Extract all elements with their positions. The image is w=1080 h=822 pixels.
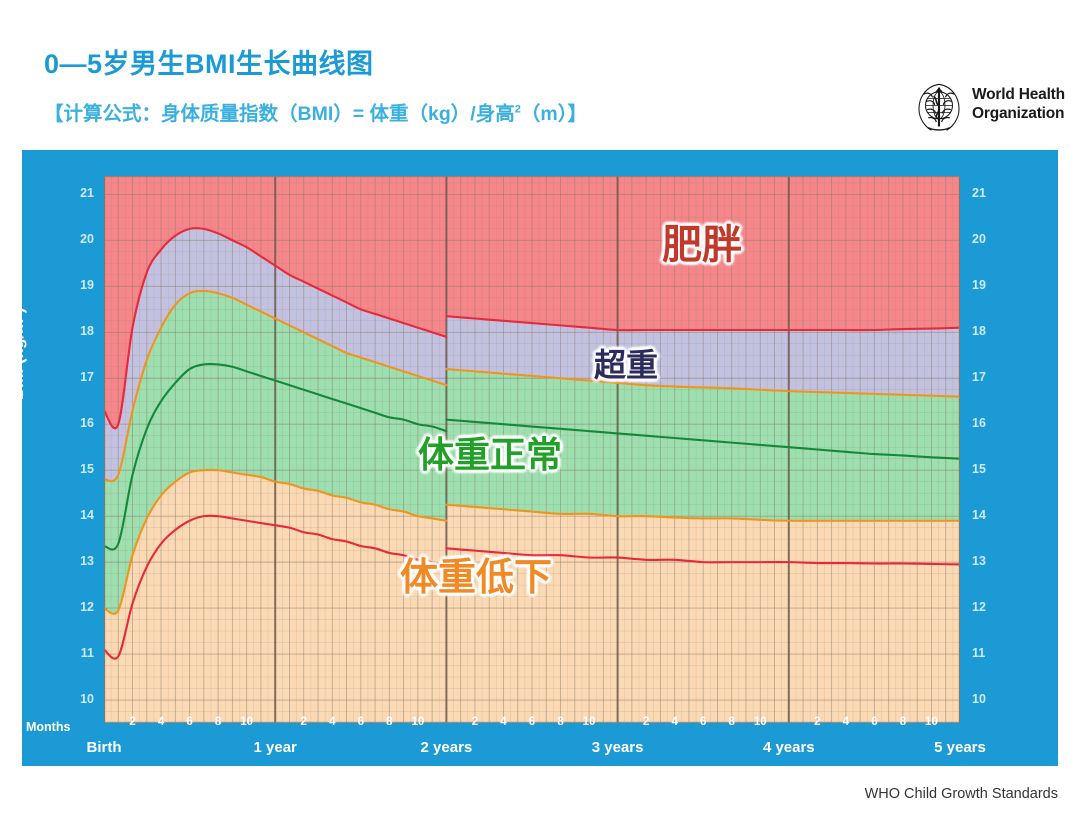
y-tick-left-21: 21 [68, 186, 94, 200]
month-tick-6: 6 [180, 716, 200, 728]
month-tick-32: 8 [551, 716, 571, 728]
month-tick-44: 8 [722, 716, 742, 728]
month-tick-40: 4 [665, 716, 685, 728]
year-label-0: Birth [44, 739, 164, 756]
month-tick-34: 10 [579, 716, 599, 728]
month-tick-50: 2 [807, 716, 827, 728]
month-tick-38: 2 [636, 716, 656, 728]
y-tick-right-20: 20 [972, 232, 998, 246]
y-tick-left-12: 12 [68, 600, 94, 614]
month-tick-8: 8 [208, 716, 228, 728]
year-label-3: 3 years [558, 739, 678, 756]
month-tick-10: 10 [237, 716, 257, 728]
formula-part-2: （m）】 [521, 103, 587, 125]
y-tick-right-13: 13 [972, 554, 998, 568]
month-tick-56: 8 [893, 716, 913, 728]
y-tick-left-19: 19 [68, 278, 94, 292]
month-tick-28: 4 [493, 716, 513, 728]
months-axis-label: Months [26, 720, 70, 734]
month-tick-22: 10 [408, 716, 428, 728]
footer-credit: WHO Child Growth Standards [0, 786, 1058, 802]
month-tick-54: 6 [864, 716, 884, 728]
formula-part-1: 【计算公式：身体质量指数（BMI）= 体重（kg）/身高 [44, 103, 515, 125]
y-tick-left-13: 13 [68, 554, 94, 568]
who-emblem-icon [912, 80, 966, 134]
year-label-1: 1 year [215, 739, 335, 756]
who-wordmark: World Health Organization [972, 86, 1065, 124]
who-bmi-growth-chart-page: 0—5岁男生BMI生长曲线图 【计算公式：身体质量指数（BMI）= 体重（kg）… [0, 0, 1080, 822]
who-logo: World Health Organization [912, 80, 1072, 136]
y-tick-left-20: 20 [68, 232, 94, 246]
zone-label-underweight: 体重低下 [400, 546, 552, 601]
zone-label-obese: 肥胖 [662, 212, 742, 270]
y-tick-right-15: 15 [972, 462, 998, 476]
month-tick-4: 4 [151, 716, 171, 728]
y-tick-right-10: 10 [972, 692, 998, 706]
y-tick-right-17: 17 [972, 370, 998, 384]
month-tick-46: 10 [750, 716, 770, 728]
month-tick-58: 10 [921, 716, 941, 728]
chart-panel: BMI (kg/m2) 212019181716151413121110 212… [22, 150, 1058, 766]
y-tick-left-18: 18 [68, 324, 94, 338]
month-tick-42: 6 [693, 716, 713, 728]
month-tick-14: 2 [294, 716, 314, 728]
y-tick-left-10: 10 [68, 692, 94, 706]
y-tick-right-21: 21 [972, 186, 998, 200]
page-title: 0—5岁男生BMI生长曲线图 [44, 42, 374, 81]
y-tick-right-11: 11 [972, 646, 998, 660]
month-tick-20: 8 [379, 716, 399, 728]
y-axis-label: BMI (kg/m2) [8, 308, 28, 400]
y-tick-right-14: 14 [972, 508, 998, 522]
y-tick-right-12: 12 [972, 600, 998, 614]
zone-label-normal: 体重正常 [418, 426, 562, 478]
y-axis-label-sup: 2 [8, 313, 19, 319]
y-tick-right-18: 18 [972, 324, 998, 338]
month-tick-18: 6 [351, 716, 371, 728]
y-tick-left-14: 14 [68, 508, 94, 522]
month-tick-16: 4 [322, 716, 342, 728]
year-label-2: 2 years [386, 739, 506, 756]
y-tick-left-11: 11 [68, 646, 94, 660]
formula-subtitle: 【计算公式：身体质量指数（BMI）= 体重（kg）/身高2（m）】 [44, 97, 587, 126]
y-axis-label-post: ) [8, 308, 27, 314]
month-tick-2: 2 [123, 716, 143, 728]
month-tick-26: 2 [465, 716, 485, 728]
y-axis-label-pre: BMI (kg/m [8, 319, 27, 400]
y-tick-left-15: 15 [68, 462, 94, 476]
y-tick-right-19: 19 [972, 278, 998, 292]
year-label-4: 4 years [729, 739, 849, 756]
who-wordmark-line2: Organization [972, 105, 1065, 124]
y-tick-left-17: 17 [68, 370, 94, 384]
year-label-5: 5 years [900, 739, 1020, 756]
zone-label-overweight: 超重 [594, 340, 658, 386]
y-tick-left-16: 16 [68, 416, 94, 430]
month-tick-52: 4 [836, 716, 856, 728]
month-tick-30: 6 [522, 716, 542, 728]
y-tick-right-16: 16 [972, 416, 998, 430]
who-wordmark-line1: World Health [972, 86, 1065, 105]
